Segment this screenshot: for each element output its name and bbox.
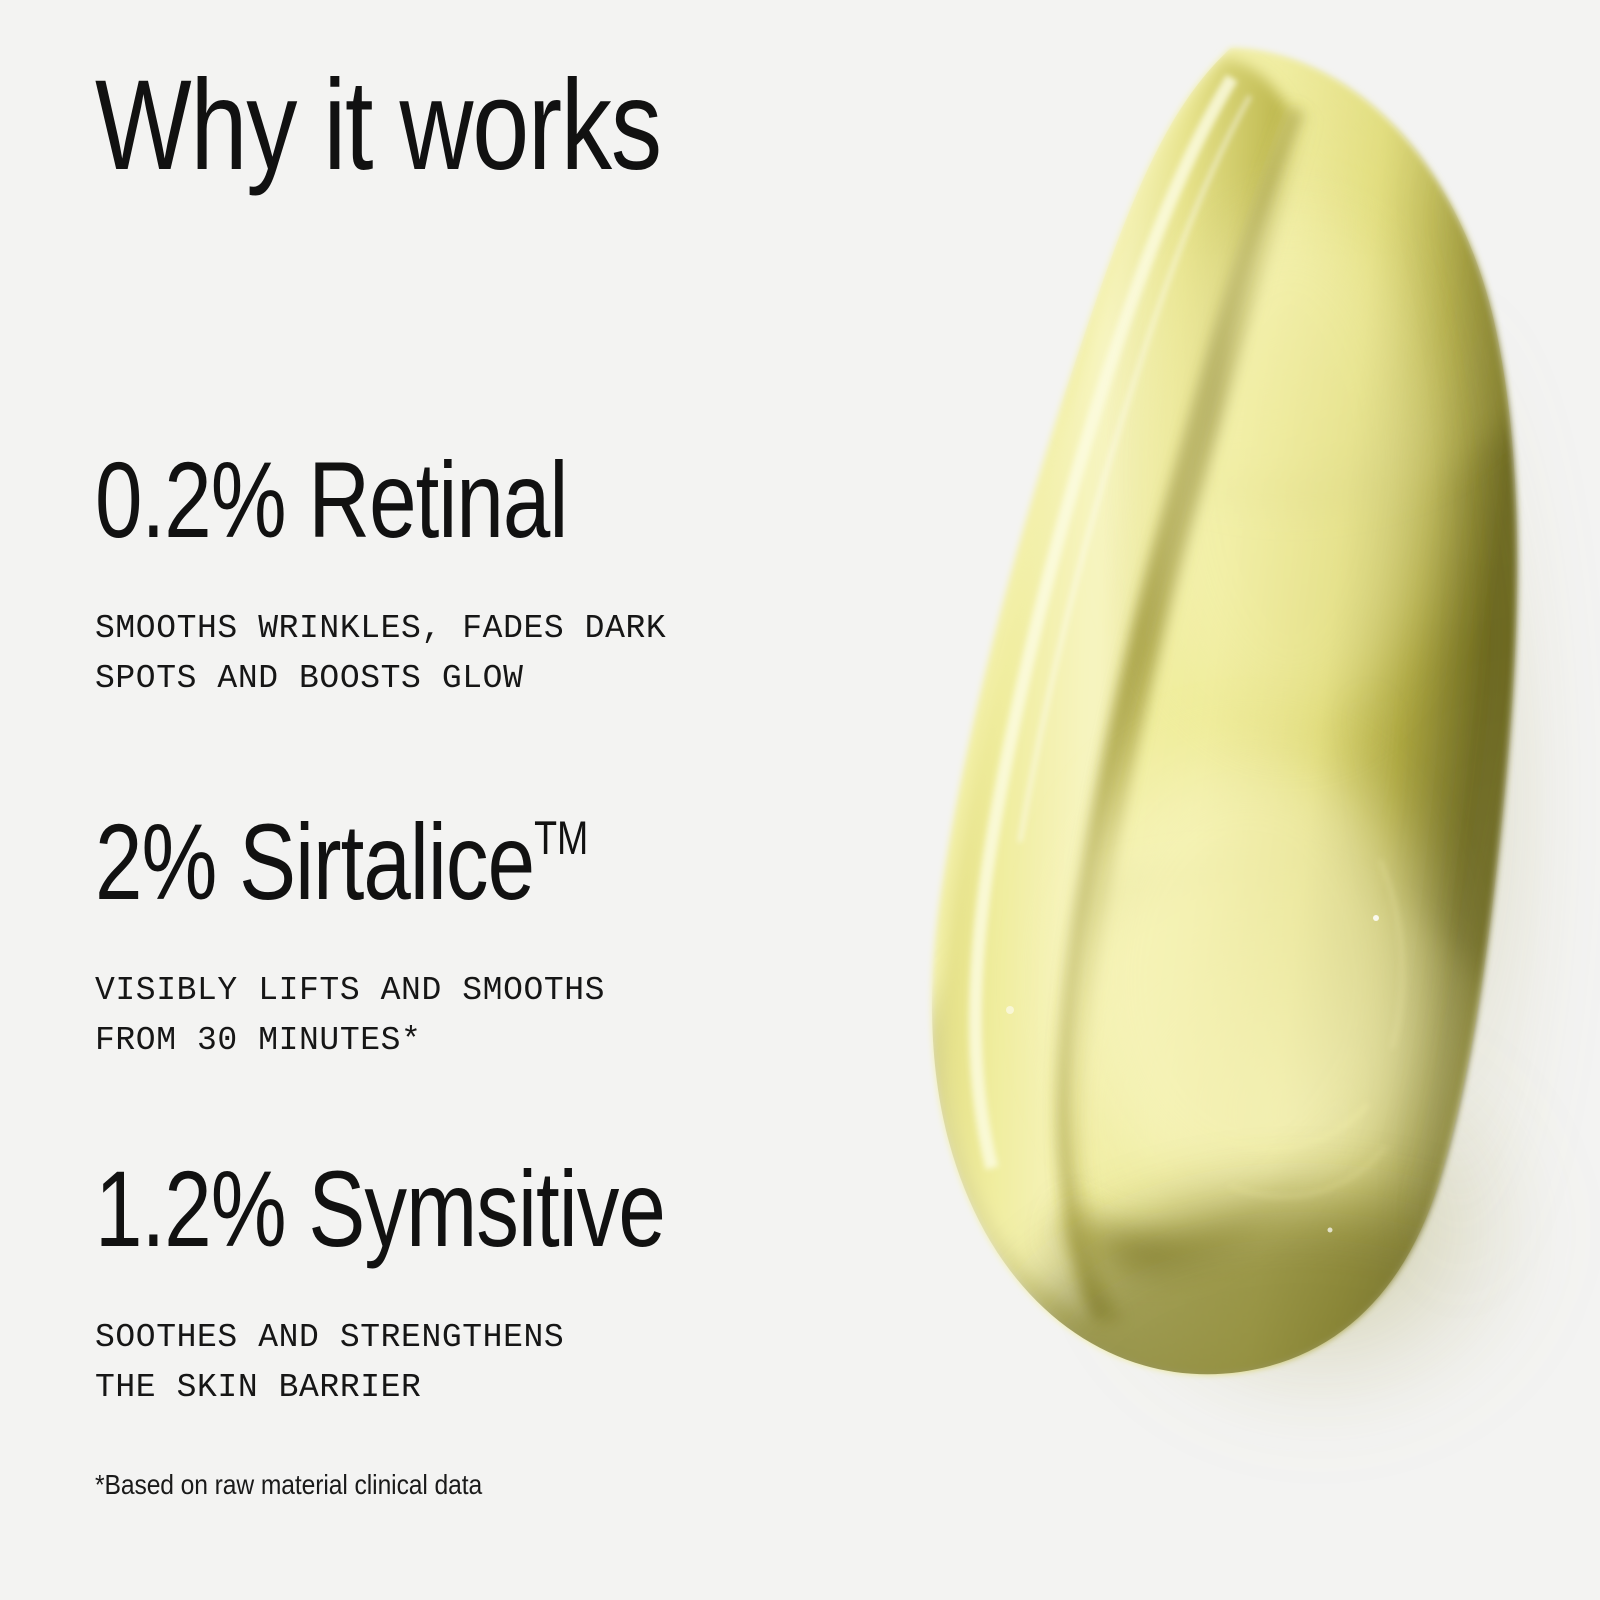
cream-speck-1 [1373,915,1379,921]
benefit-description: SMOOTHS WRINKLES, FADES DARK SPOTS AND B… [95,556,895,704]
cream-upper-light [1140,210,1440,730]
cream-speck-3 [1006,1006,1014,1014]
benefits-text-column: Why it works 0.2% Retinal SMOOTHS WRINKL… [95,0,895,1600]
footnote: *Based on raw material clinical data [95,1468,482,1502]
benefit-item-retinal: 0.2% Retinal SMOOTHS WRINKLES, FADES DAR… [95,444,895,704]
cream-speck-2 [1328,1228,1333,1233]
cream-swatch-illustration [820,0,1600,1600]
marketing-graphic: Why it works 0.2% Retinal SMOOTHS WRINKL… [0,0,1600,1600]
cream-swatch-photo [820,0,1600,1600]
benefit-heading: 0.2% Retinal [95,444,727,556]
benefit-item-sirtalice: 2% SirtaliceTM VISIBLY LIFTS AND SMOOTHS… [95,806,895,1066]
benefit-description: VISIBLY LIFTS AND SMOOTHS FROM 30 MINUTE… [95,918,895,1066]
benefit-heading: 2% SirtaliceTM [95,806,727,918]
benefit-description: SOOTHES AND STRENGTHENS THE SKIN BARRIER [95,1265,895,1413]
cream-center-light [1070,750,1430,1210]
benefit-heading-text: 1.2% Symsitive [95,1148,665,1269]
benefit-item-symsitive: 1.2% Symsitive SOOTHES AND STRENGTHENS T… [95,1153,895,1413]
page-title: Why it works [95,62,661,190]
benefit-heading-text: 0.2% Retinal [95,439,567,560]
benefit-heading: 1.2% Symsitive [95,1153,727,1265]
benefit-heading-text: 2% Sirtalice [95,801,534,922]
trademark-symbol: TM [534,812,588,865]
